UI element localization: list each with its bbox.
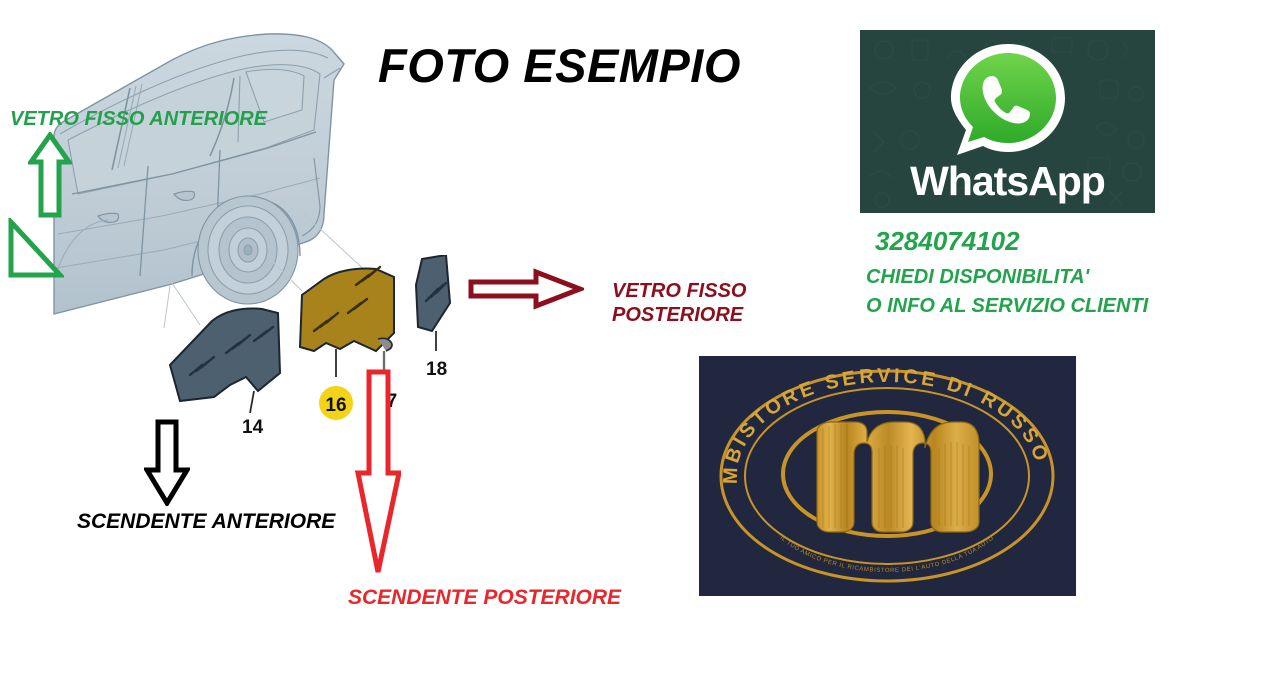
svg-text:14: 14 <box>242 417 264 438</box>
label-scendente-anteriore: SCENDENTE ANTERIORE <box>77 510 335 535</box>
whatsapp-banner: WhatsApp <box>860 30 1155 213</box>
shop-logo-banner: MRICAMBISTORE SERVICE DI RUSSO MARCO IL … <box>699 356 1076 596</box>
up-arrow-green-icon <box>28 132 72 223</box>
label-vetro-fisso-posteriore: VETRO FISSO POSTERIORE <box>612 280 746 327</box>
page-title: FOTO ESEMPIO <box>378 38 741 93</box>
label-vetro-fisso-posteriore-line1: VETRO FISSO <box>612 280 746 304</box>
down-arrow-black-icon <box>144 418 190 511</box>
svg-text:18: 18 <box>426 359 447 380</box>
right-triangle-green-icon <box>6 218 64 285</box>
screenshot-canvas: 14 16 17 <box>0 0 1264 678</box>
whatsapp-wordmark: WhatsApp <box>860 158 1155 205</box>
svg-text:16: 16 <box>325 395 346 416</box>
phone-number: 3284074102 <box>875 226 1020 257</box>
down-arrow-red-icon <box>355 368 401 581</box>
whatsapp-icon <box>937 38 1079 166</box>
exploded-glass-parts: 14 16 17 <box>150 255 480 455</box>
label-vetro-fisso-anteriore: VETRO FISSO ANTERIORE <box>10 108 267 132</box>
label-scendente-posteriore: SCENDENTE POSTERIORE <box>348 586 621 611</box>
right-arrow-dark-red-icon <box>468 268 584 315</box>
shop-logo-monogram <box>817 422 979 532</box>
contact-line-1: CHIEDI DISPONIBILITA' <box>866 266 1089 289</box>
contact-line-2: O INFO AL SERVIZIO CLIENTI <box>866 295 1148 318</box>
label-vetro-fisso-posteriore-line2: POSTERIORE <box>612 304 746 328</box>
